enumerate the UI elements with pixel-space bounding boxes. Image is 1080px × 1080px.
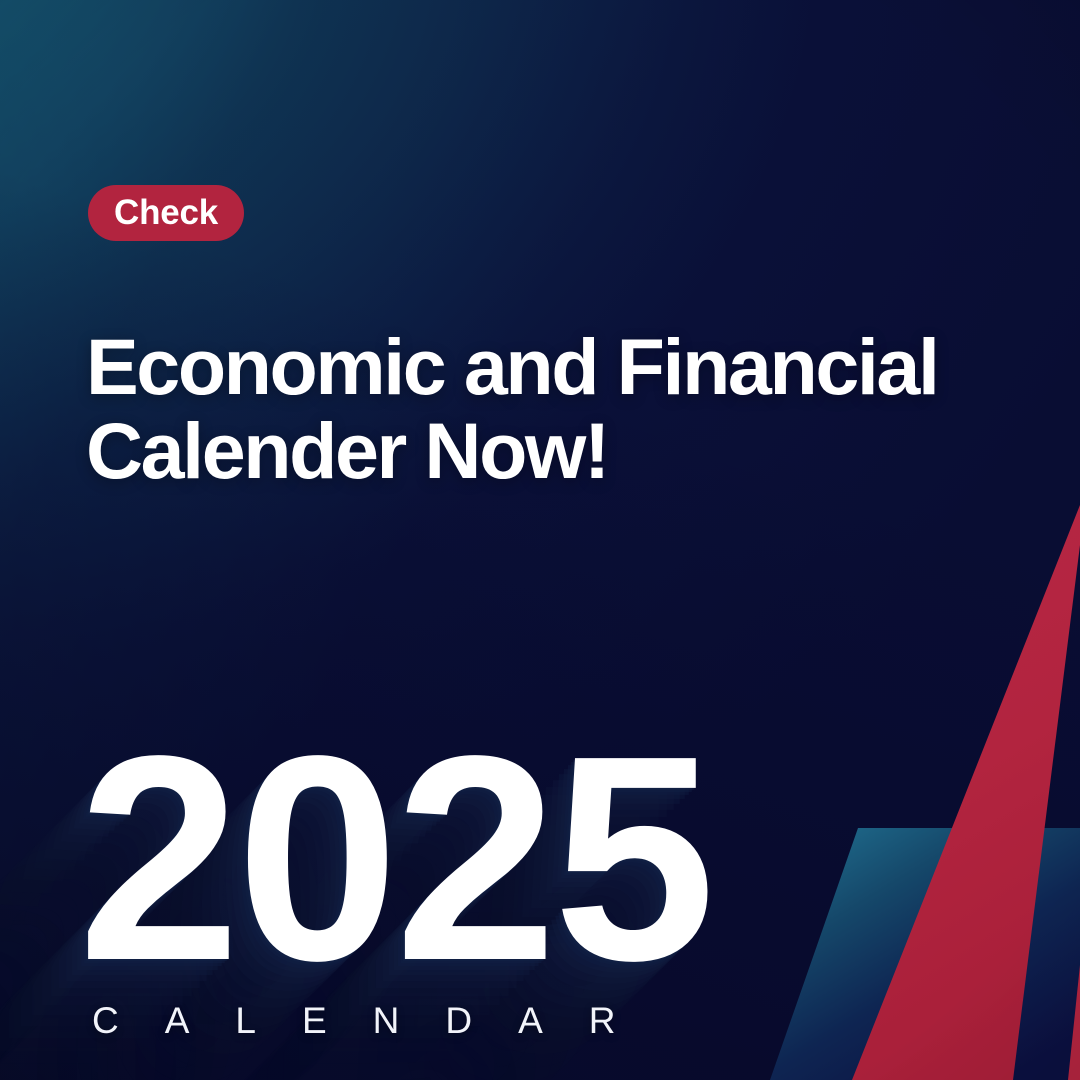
year-text: 2025	[78, 736, 712, 980]
headline-line-1: Economic and Financial	[86, 325, 986, 409]
check-badge-label: Check	[114, 195, 218, 230]
calendar-wordmark: CALENDAR	[92, 1002, 662, 1039]
headline: Economic and Financial Calender Now!	[86, 325, 986, 492]
headline-line-2: Calender Now!	[86, 409, 986, 493]
check-badge[interactable]: Check	[88, 185, 244, 241]
year-block: 2025	[78, 736, 838, 996]
poster-canvas: Check Economic and Financial Calender No…	[0, 0, 1080, 1080]
